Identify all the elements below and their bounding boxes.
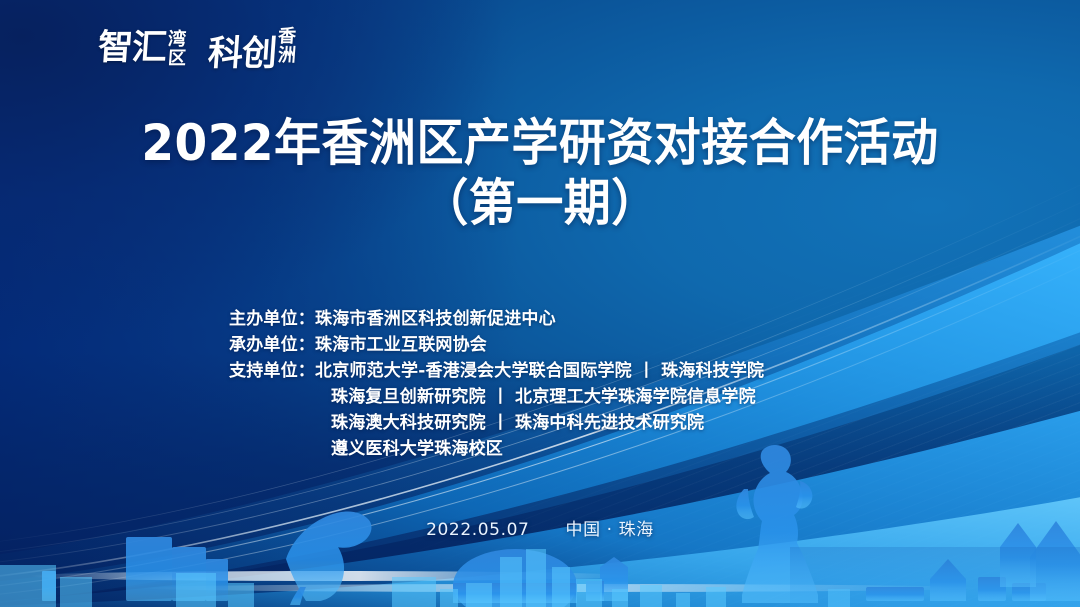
organizer-name: 珠海澳大科技研究院 (331, 413, 486, 433)
logo-sub-stack-2: 香 洲 (278, 28, 296, 65)
logo-sub-stack-1: 湾 区 (168, 31, 186, 68)
logo-main-text-1: 智汇 (97, 30, 167, 65)
logo-main-text-2: 科创 (207, 36, 277, 71)
event-date: 2022.05.07 (426, 520, 529, 540)
page-title: 2022年香洲区产学研资对接合作活动 （第一期） (0, 113, 1080, 233)
title-line-2: （第一期） (32, 173, 1047, 233)
logo-group-kechuang-xiangzhou: 科创 香 洲 (208, 30, 296, 71)
logo-sub-char-2a: 香 (277, 28, 296, 47)
organizer-name: 珠海科技学院 (661, 361, 764, 381)
organizer-row: 承办单位：珠海市工业互联网协会 (229, 332, 764, 358)
organizer-label: 主办单位： (229, 309, 315, 329)
event-location: 中国 · 珠海 (565, 520, 653, 540)
organizer-row: 珠海澳大科技研究院丨珠海中科先进技术研究院 (229, 410, 764, 436)
presentation-slide: 智汇 湾 区 科创 香 洲 2022年香洲区产学研资对接合作活动 （第一期） 主… (0, 0, 1080, 607)
title-line-1: 2022年香洲区产学研资对接合作活动 (32, 113, 1047, 173)
organizer-name: 珠海市工业互联网协会 (315, 335, 487, 355)
organizer-name: 北京理工大学珠海学院信息学院 (515, 387, 756, 407)
organizer-label: 承办单位： (229, 335, 315, 355)
organizer-row: 遵义医科大学珠海校区 (229, 436, 764, 462)
organizer-label: 支持单位： (229, 361, 315, 381)
organizer-separator: 丨 (486, 413, 515, 433)
organizer-row: 珠海复旦创新研究院丨北京理工大学珠海学院信息学院 (229, 384, 764, 410)
organizer-name: 珠海中科先进技术研究院 (515, 413, 704, 433)
organizer-name: 珠海复旦创新研究院 (331, 387, 486, 407)
logo-group-zhihui-wanqu: 智汇 湾 区 (98, 30, 186, 68)
logo-sub-char-2b: 洲 (277, 47, 296, 66)
organizer-name: 珠海市香洲区科技创新促进中心 (315, 309, 556, 329)
organizer-row: 主办单位：珠海市香洲区科技创新促进中心 (229, 306, 764, 332)
organizer-separator: 丨 (486, 387, 515, 407)
event-logo: 智汇 湾 区 科创 香 洲 (98, 30, 296, 71)
organizer-separator: 丨 (632, 361, 661, 381)
organizer-list: 主办单位：珠海市香洲区科技创新促进中心承办单位：珠海市工业互联网协会支持单位：北… (229, 306, 764, 462)
organizer-row: 支持单位：北京师范大学-香港浸会大学联合国际学院丨珠海科技学院 (229, 358, 764, 384)
logo-sub-char-1a: 湾 (167, 31, 186, 50)
footer-date-location: 2022.05.07 中国 · 珠海 (0, 515, 1080, 540)
organizer-name: 北京师范大学-香港浸会大学联合国际学院 (315, 361, 632, 381)
logo-sub-char-1b: 区 (167, 50, 186, 69)
organizer-name: 遵义医科大学珠海校区 (331, 439, 503, 459)
